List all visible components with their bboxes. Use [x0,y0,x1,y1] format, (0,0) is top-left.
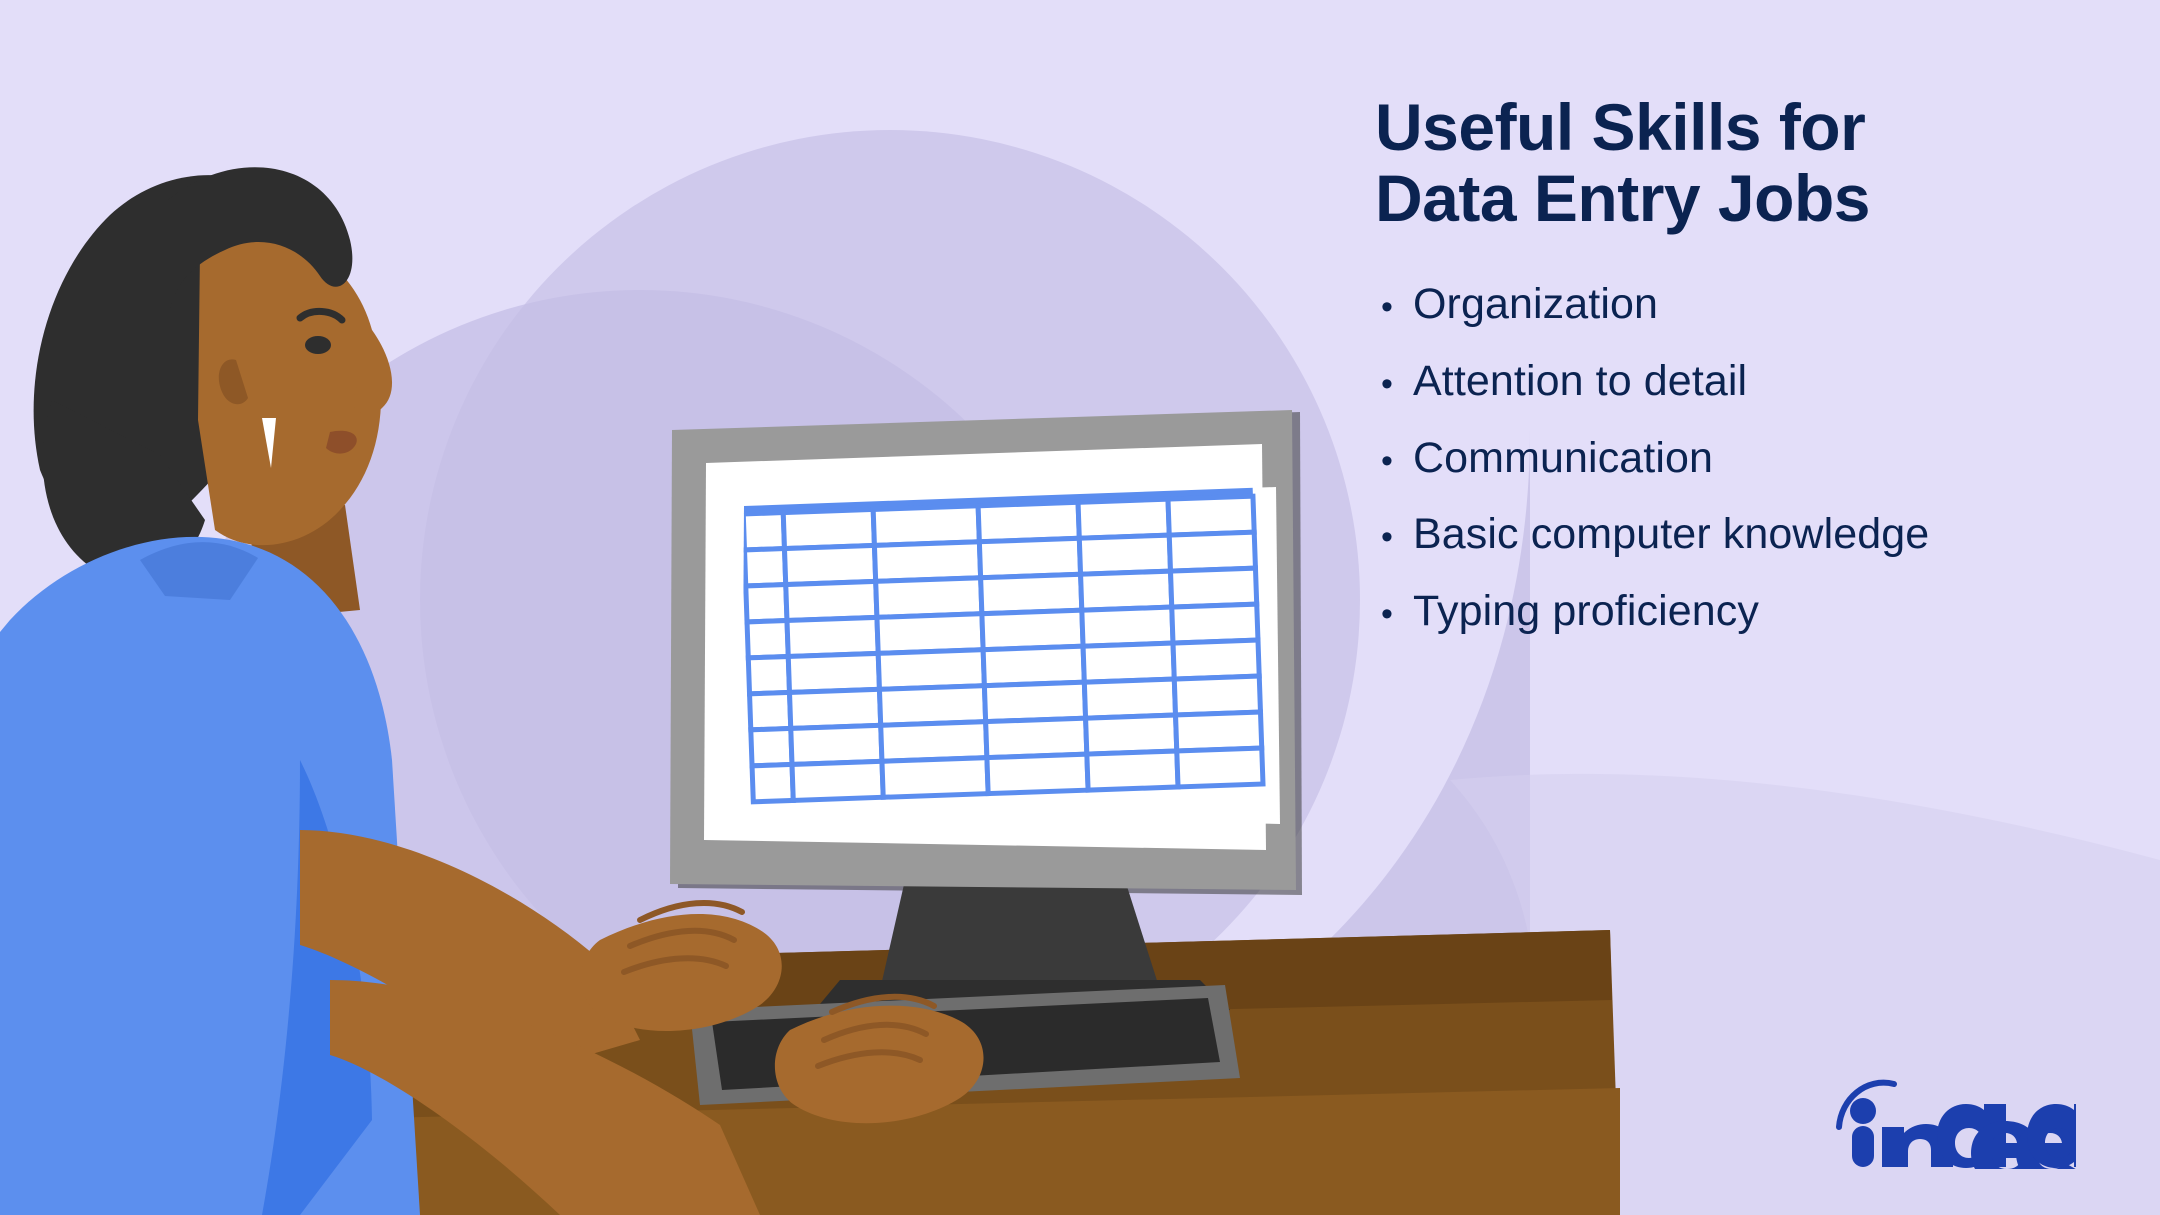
indeed-i-dot-icon [1850,1098,1876,1124]
list-item: • Organization [1375,279,2115,330]
spreadsheet-grid [742,460,1263,802]
indeed-wordmark-icon [1836,1073,2076,1169]
skills-list: • Organization • Attention to detail • C… [1375,279,2115,637]
skill-label: Communication [1413,433,1713,484]
bullet-icon: • [1375,597,1413,631]
bullet-icon: • [1375,367,1413,401]
page-title: Useful Skills for Data Entry Jobs [1375,92,2115,233]
spreadsheet-cells [743,496,1263,802]
skill-label: Basic computer knowledge [1413,509,1929,560]
indeed-letter-i [1852,1126,1874,1167]
eye [305,336,331,354]
indeed-logo [1836,1073,2076,1169]
skill-label: Typing proficiency [1413,586,1759,637]
bullet-icon: • [1375,520,1413,554]
list-item: • Typing proficiency [1375,586,2115,637]
skill-label: Attention to detail [1413,356,1747,407]
content-panel: Useful Skills for Data Entry Jobs • Orga… [1375,92,2115,663]
infographic-canvas: Useful Skills for Data Entry Jobs • Orga… [0,0,2160,1215]
bullet-icon: • [1375,290,1413,324]
monitor-stand-neck [880,880,1160,990]
list-item: • Communication [1375,433,2115,484]
list-item: • Basic computer knowledge [1375,509,2115,560]
skill-label: Organization [1413,279,1658,330]
bullet-icon: • [1375,444,1413,478]
list-item: • Attention to detail [1375,356,2115,407]
